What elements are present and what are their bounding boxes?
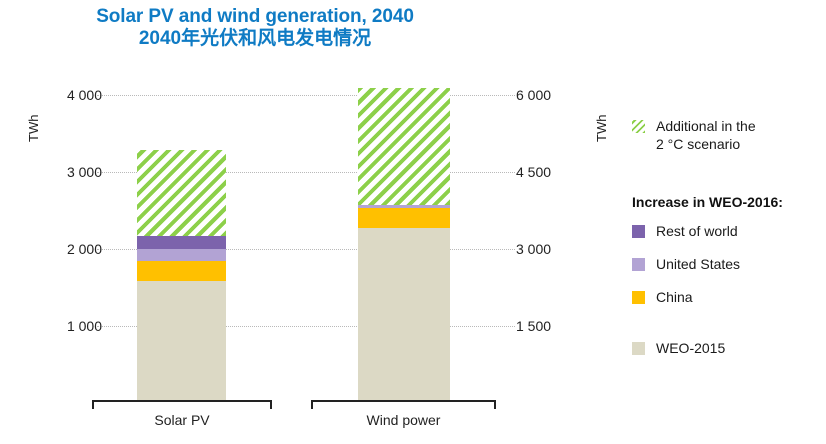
left-tick-4000: 4 000 [30,87,102,103]
right-axis-title: TWh [594,115,609,142]
category-label-solar-pv: Solar PV [92,412,272,428]
chart-legend: Additional in the 2 °C scenario Increase… [632,0,826,444]
left-axis-title: TWh [26,115,41,142]
category-label-wind-power: Wind power [311,412,496,428]
bar-solar-pv-segment-weo-2015 [137,281,226,400]
bar-solar-pv-segment-china [137,261,226,281]
legend-swatch-weo-2015-icon [632,342,645,355]
legend-heading-increase: Increase in WEO-2016: [632,194,783,210]
gridline-4000 [97,95,515,96]
legend-label-additional: Additional in the 2 °C scenario [656,118,756,154]
bar-solar-pv [137,150,226,400]
legend-label-weo-2015: WEO-2015 [656,340,725,358]
right-tick-1500: 1 500 [516,318,588,334]
left-tick-2000: 2 000 [30,241,102,257]
right-tick-6000: 6 000 [516,87,588,103]
bar-solar-pv-segment-united-states [137,249,226,261]
legend-swatch-rest-of-world-icon [632,225,645,238]
left-tick-3000: 3 000 [30,164,102,180]
category-bracket-solar-pv [92,400,272,409]
plot-area: TWh TWh 4 000 3 000 2 000 1 000 6 000 4 … [0,0,620,444]
legend-swatch-united-states-icon [632,258,645,271]
legend-label-united-states: United States [656,256,740,274]
legend-item-united-states[interactable]: United States [632,256,740,274]
legend-item-weo-2015[interactable]: WEO-2015 [632,340,725,358]
bar-wind-power-segment-weo-2015 [358,228,450,400]
left-tick-1000: 1 000 [30,318,102,334]
right-tick-4500: 4 500 [516,164,588,180]
legend-label-china: China [656,289,693,307]
bar-solar-pv-segment-additional [137,150,226,236]
bar-wind-power [358,88,450,400]
legend-item-additional[interactable]: Additional in the 2 °C scenario [632,118,756,154]
legend-item-china[interactable]: China [632,289,693,307]
bar-wind-power-segment-china [358,208,450,228]
legend-swatch-china-icon [632,291,645,304]
legend-label-additional-line1: Additional in the [656,118,756,134]
right-tick-3000: 3 000 [516,241,588,257]
legend-label-rest-of-world: Rest of world [656,223,738,241]
legend-label-additional-line2: 2 °C scenario [656,136,740,152]
legend-swatch-additional-icon [632,120,645,133]
legend-item-rest-of-world[interactable]: Rest of world [632,223,738,241]
bar-wind-power-segment-additional [358,88,450,205]
category-bracket-wind-power [311,400,496,409]
bar-solar-pv-segment-rest-of-world [137,236,226,249]
chart-page: Solar PV and wind generation, 2040 2040年… [0,0,826,444]
